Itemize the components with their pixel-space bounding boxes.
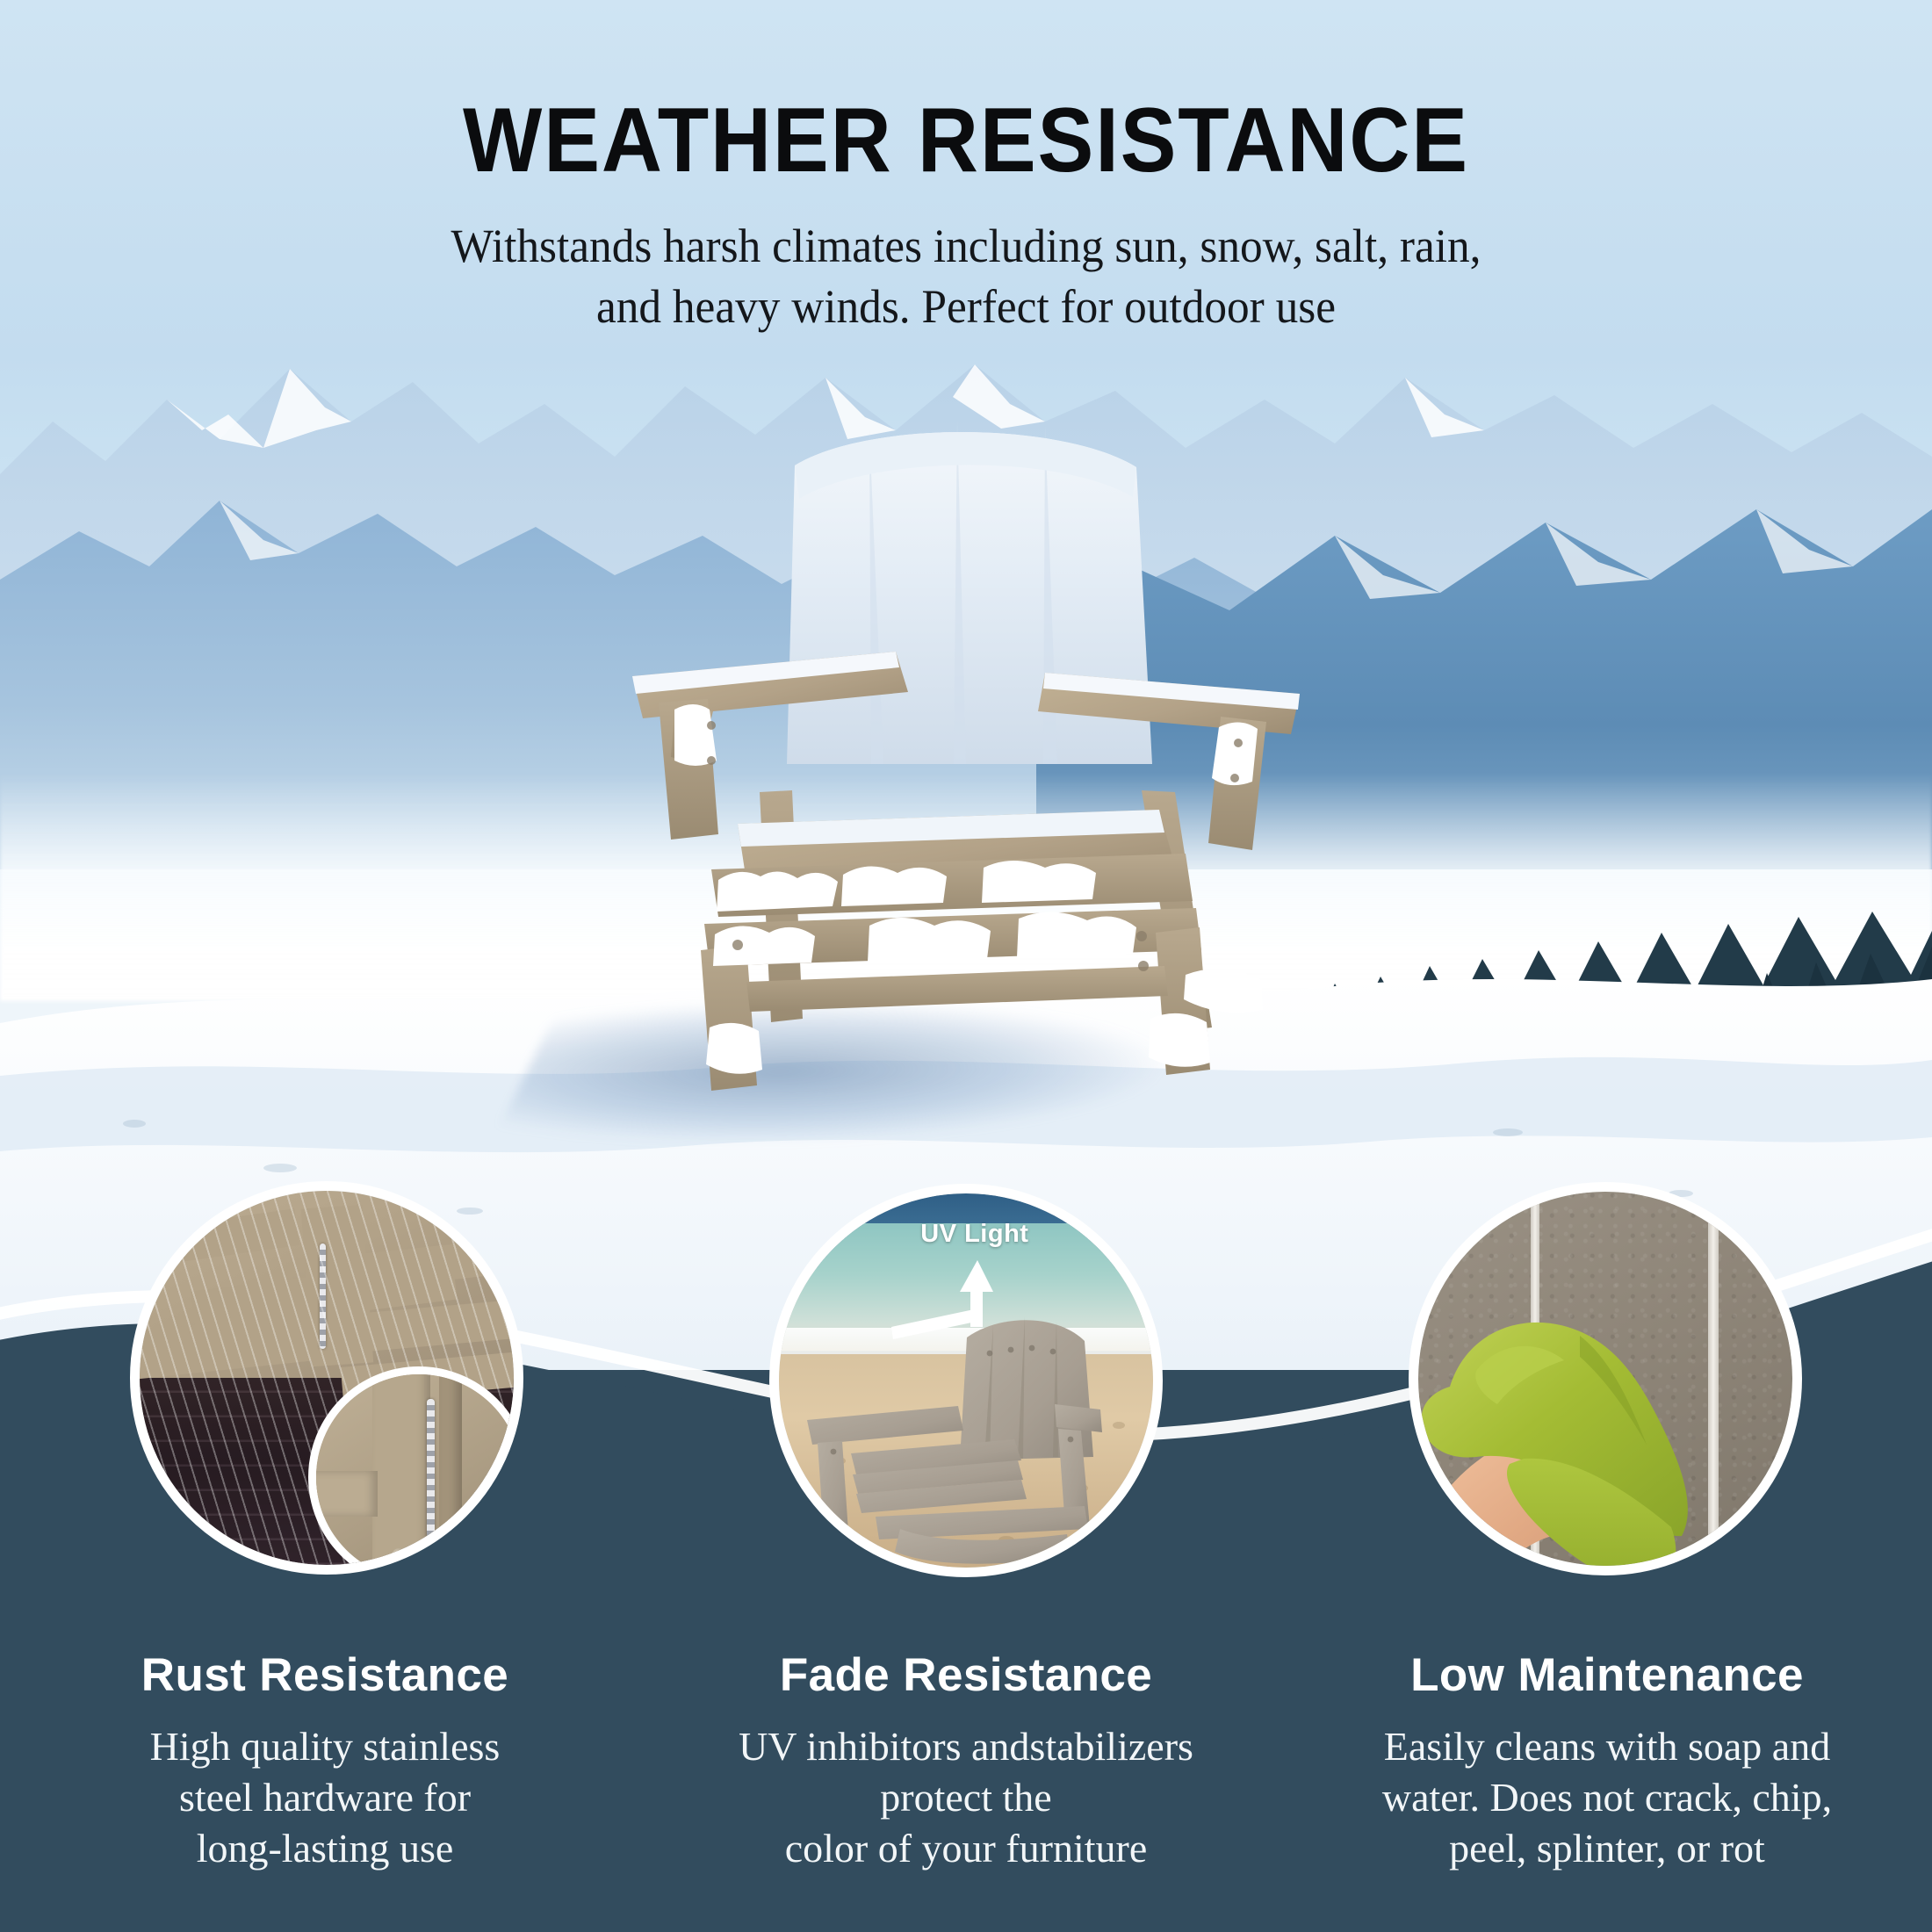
infographic-canvas: WEATHER RESISTANCE Withstands harsh clim…: [0, 0, 1932, 1932]
feature-desc-line-3: long-lasting use: [35, 1823, 615, 1874]
microfiber-cloth: [1418, 1276, 1770, 1566]
feature-desc-line-2: steel hardware for: [35, 1772, 615, 1823]
feature-desc-line-1: UV inhibitors andstabilizers: [676, 1721, 1256, 1772]
feature-desc-line-1: Easily cleans with soap and: [1317, 1721, 1897, 1772]
feature-description: High quality stainless steel hardware fo…: [35, 1700, 615, 1874]
feature-desc-line-2: water. Does not crack, chip,: [1317, 1772, 1897, 1823]
feature-desc-line-2: protect the: [676, 1772, 1256, 1823]
feature-circle-row: UV Light: [0, 0, 1932, 1932]
feature-title: Fade Resistance: [676, 1651, 1256, 1700]
feature-description: UV inhibitors andstabilizers protect the…: [676, 1700, 1256, 1874]
feature-desc-line-3: color of your furniture: [676, 1823, 1256, 1874]
feature-title: Rust Resistance: [35, 1651, 615, 1700]
feature-caption-rust-resistance: Rust Resistance High quality stainless s…: [35, 1651, 615, 1874]
uv-light-label: UV Light: [920, 1220, 1028, 1249]
feature-caption-fade-resistance: Fade Resistance UV inhibitors andstabili…: [676, 1651, 1256, 1874]
feature-description: Easily cleans with soap and water. Does …: [1317, 1700, 1897, 1874]
feature-desc-line-3: peel, splinter, or rot: [1317, 1823, 1897, 1874]
uv-light-arrow-icon: [883, 1251, 1049, 1361]
inset-magnifier-chain-detail: [308, 1366, 514, 1565]
feature-caption-low-maintenance: Low Maintenance Easily cleans with soap …: [1317, 1651, 1897, 1874]
feature-caption-row: Rust Resistance High quality stainless s…: [0, 1651, 1932, 1874]
feature-image-fade-resistance: UV Light: [769, 1184, 1163, 1577]
feature-desc-line-1: High quality stainless: [35, 1721, 615, 1772]
feature-image-low-maintenance: [1409, 1182, 1802, 1575]
feature-image-rust-resistance: [130, 1181, 523, 1575]
feature-title: Low Maintenance: [1317, 1651, 1897, 1700]
